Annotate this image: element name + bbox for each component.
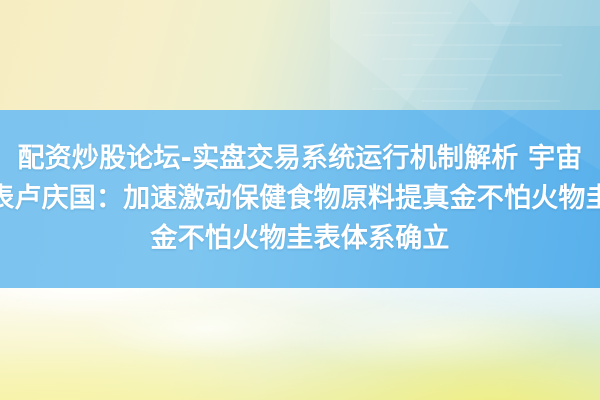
headline-band-facet [0, 110, 600, 288]
banner-image: 配资炒股论坛-实盘交易系统运行机制解析 宇宙 表卢庆国：加速激动保健食物原料提真… [0, 0, 600, 400]
headline-band [0, 110, 600, 288]
